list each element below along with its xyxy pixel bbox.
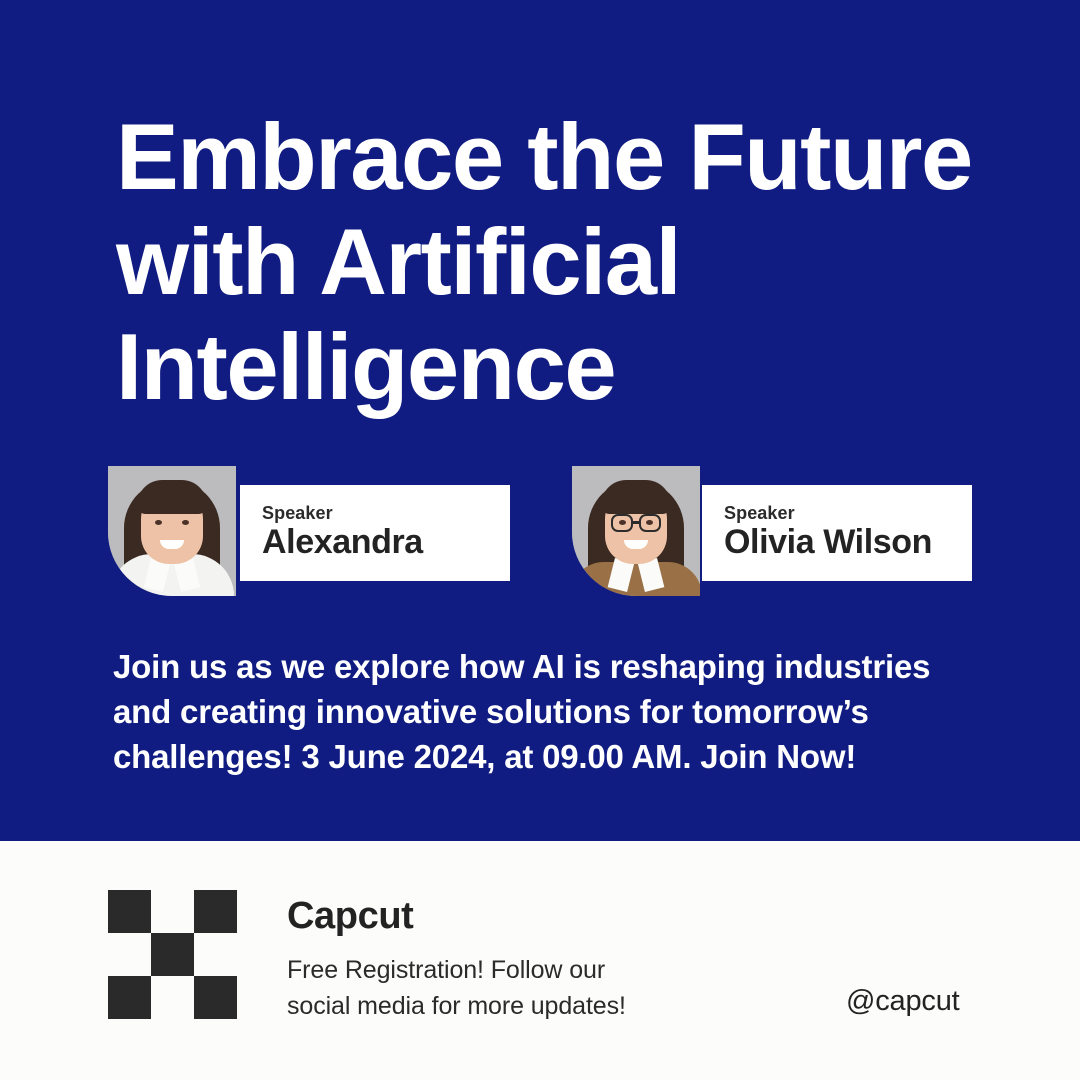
hero-panel: Embrace the Future with Artificial Intel… — [0, 0, 1080, 841]
speaker-nameplate: Speaker Alexandra — [240, 485, 510, 581]
speaker-list: Speaker Alexandra — [108, 466, 974, 596]
page-title: Embrace the Future with Artificial Intel… — [116, 104, 1016, 419]
capcut-logo-icon — [108, 890, 237, 1019]
speaker-nameplate: Speaker Olivia Wilson — [702, 485, 972, 581]
speaker-name: Olivia Wilson — [724, 523, 932, 562]
event-description: Join us as we explore how AI is reshapin… — [113, 644, 993, 779]
speaker-role-label: Speaker — [724, 503, 795, 524]
footer-tagline: Free Registration! Follow our social med… — [287, 952, 757, 1024]
brand-name: Capcut — [287, 895, 413, 938]
avatar — [572, 466, 700, 596]
speaker-role-label: Speaker — [262, 503, 333, 524]
social-handle[interactable]: @capcut — [846, 985, 959, 1018]
avatar — [108, 466, 236, 596]
glasses-icon — [639, 514, 661, 532]
glasses-icon — [611, 514, 633, 532]
poster-canvas: Embrace the Future with Artificial Intel… — [0, 0, 1080, 1080]
speaker-card[interactable]: Speaker Olivia Wilson — [572, 466, 972, 596]
speaker-card[interactable]: Speaker Alexandra — [108, 466, 510, 596]
speaker-name: Alexandra — [262, 523, 423, 562]
